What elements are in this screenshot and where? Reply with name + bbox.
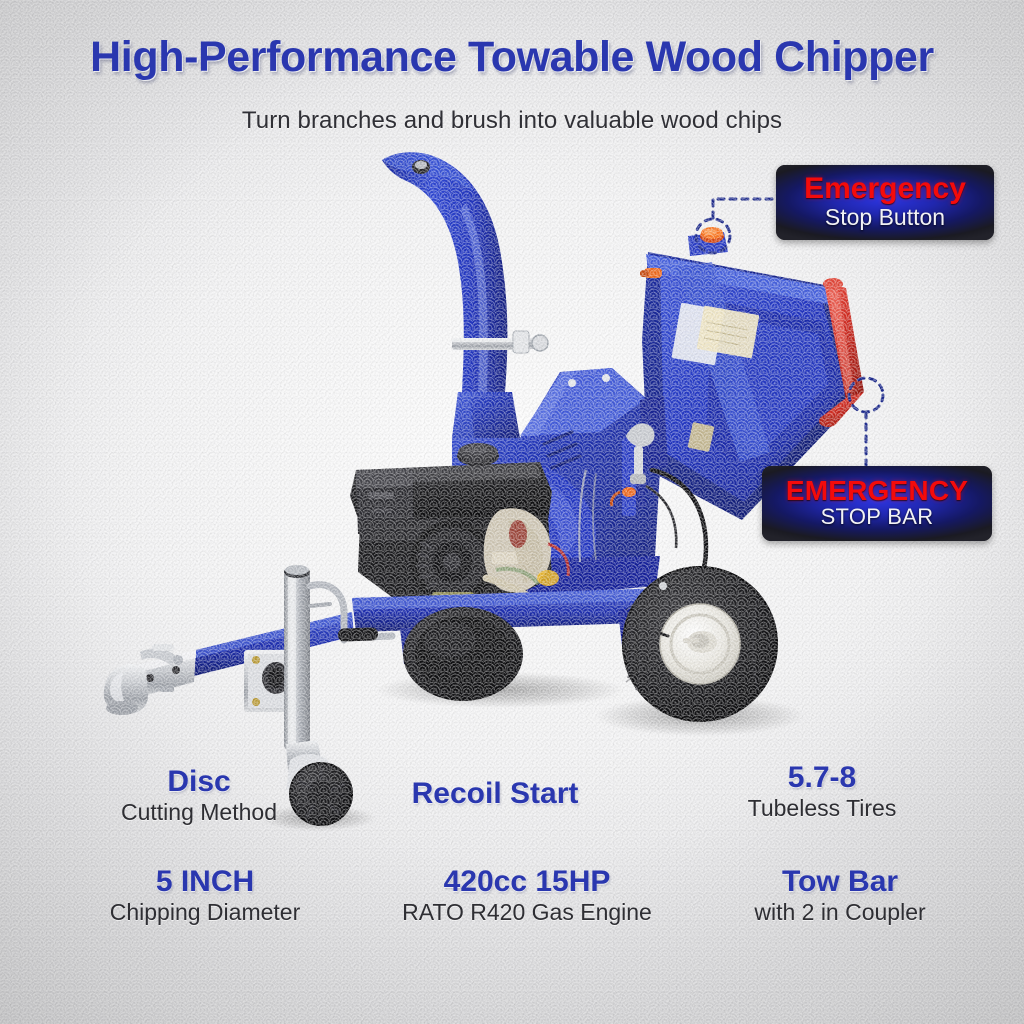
callout-subtitle-stop-button: Stop Button [776, 205, 994, 231]
crank-grip[interactable] [338, 627, 378, 641]
spec-value: Disc [88, 766, 310, 797]
jack-post [284, 570, 310, 750]
spec-label: Tubeless Tires [672, 795, 972, 821]
gas-engine [350, 443, 568, 604]
hopper-latch-left[interactable] [640, 268, 662, 278]
callout-emergency-stop-bar: EMERGENCY STOP BAR [762, 466, 992, 541]
spec-label: Cutting Method [88, 799, 310, 825]
spec-engine: 420cc 15HP RATO R420 Gas Engine [352, 866, 702, 925]
spec-value: 5 INCH [60, 866, 350, 897]
callout-subtitle-stop-bar: STOP BAR [762, 505, 992, 530]
spec-value: 420cc 15HP [352, 866, 702, 897]
spec-value: Recoil Start [330, 778, 660, 809]
discharge-chute [382, 152, 548, 438]
spec-label: Chipping Diameter [60, 899, 350, 925]
spec-tires: 5.7-8 Tubeless Tires [672, 762, 972, 821]
leader-path-stop-button [713, 199, 782, 218]
rear-wheel [622, 566, 778, 722]
callout-title-emergency: EMERGENCY [762, 477, 992, 506]
page-subtitle: Turn branches and brush into valuable wo… [0, 107, 1024, 135]
spec-value: 5.7-8 [672, 762, 972, 793]
page-title: High-Performance Towable Wood Chipper [0, 33, 1024, 82]
infographic-page: High-Performance Towable Wood Chipper Tu… [0, 0, 1024, 1024]
spec-chipping-diameter: 5 INCH Chipping Diameter [60, 866, 350, 925]
recoil-starter[interactable] [410, 520, 494, 604]
spec-label: RATO R420 Gas Engine [352, 899, 702, 925]
spec-disc: Disc Cutting Method [88, 766, 310, 825]
callout-emergency-stop-button: Emergency Stop Button [776, 165, 994, 240]
front-wheel [403, 607, 523, 701]
callout-title-emergency: Emergency [776, 174, 994, 205]
spec-tow-bar: Tow Bar with 2 in Coupler [700, 866, 980, 925]
emergency-stop-button[interactable] [700, 227, 724, 243]
spec-value: Tow Bar [700, 866, 980, 897]
spec-recoil-start: Recoil Start [330, 778, 660, 811]
spec-label: with 2 in Coupler [700, 899, 980, 925]
tow-bar-coupler [104, 644, 196, 715]
